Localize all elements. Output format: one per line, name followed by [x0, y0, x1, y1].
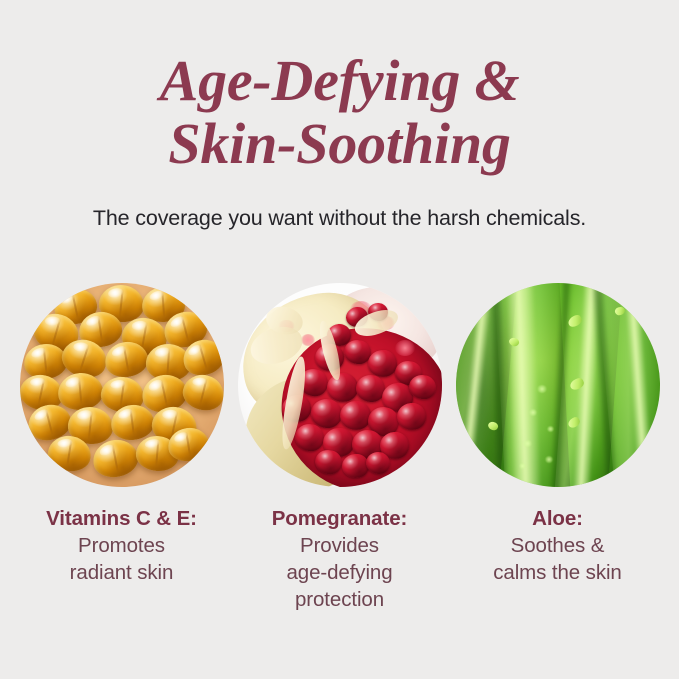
caption-line: Promotes [46, 532, 197, 559]
headline-line-1: Age-Defying & [0, 49, 679, 112]
caption-pomegranate: Pomegranate: Provides age-defying protec… [272, 505, 408, 613]
caption-line: age-defying [272, 559, 408, 586]
caption-vitamins: Vitamins C & E: Promotes radiant skin [46, 505, 197, 586]
caption-line: radiant skin [46, 559, 197, 586]
pomegranate-scene [238, 283, 442, 487]
caption-title: Vitamins C & E: [46, 505, 197, 532]
ingredient-column-pomegranate: Pomegranate: Provides age-defying protec… [237, 283, 442, 613]
caption-title: Aloe: [493, 505, 621, 532]
capsules-scene [20, 283, 224, 487]
caption-title: Pomegranate: [272, 505, 408, 532]
caption-line: protection [272, 586, 408, 613]
page-subtitle: The coverage you want without the harsh … [0, 206, 679, 231]
aloe-leaves-photo [456, 283, 660, 487]
page-title: Age-Defying & Skin-Soothing [0, 49, 679, 175]
vitamin-capsules-photo [20, 283, 224, 487]
caption-line: Provides [272, 532, 408, 559]
caption-line: calms the skin [493, 559, 621, 586]
ingredient-column-vitamins: Vitamins C & E: Promotes radiant skin [19, 283, 224, 613]
pomegranate-photo [238, 283, 442, 487]
ingredient-columns: Vitamins C & E: Promotes radiant skin [0, 283, 679, 613]
headline-line-2: Skin-Soothing [0, 112, 679, 175]
caption-aloe: Aloe: Soothes & calms the skin [493, 505, 621, 586]
ingredient-column-aloe: Aloe: Soothes & calms the skin [455, 283, 660, 613]
aloe-scene [456, 283, 660, 487]
ingredient-benefits-poster: Age-Defying & Skin-Soothing The coverage… [0, 0, 679, 679]
caption-line: Soothes & [493, 532, 621, 559]
